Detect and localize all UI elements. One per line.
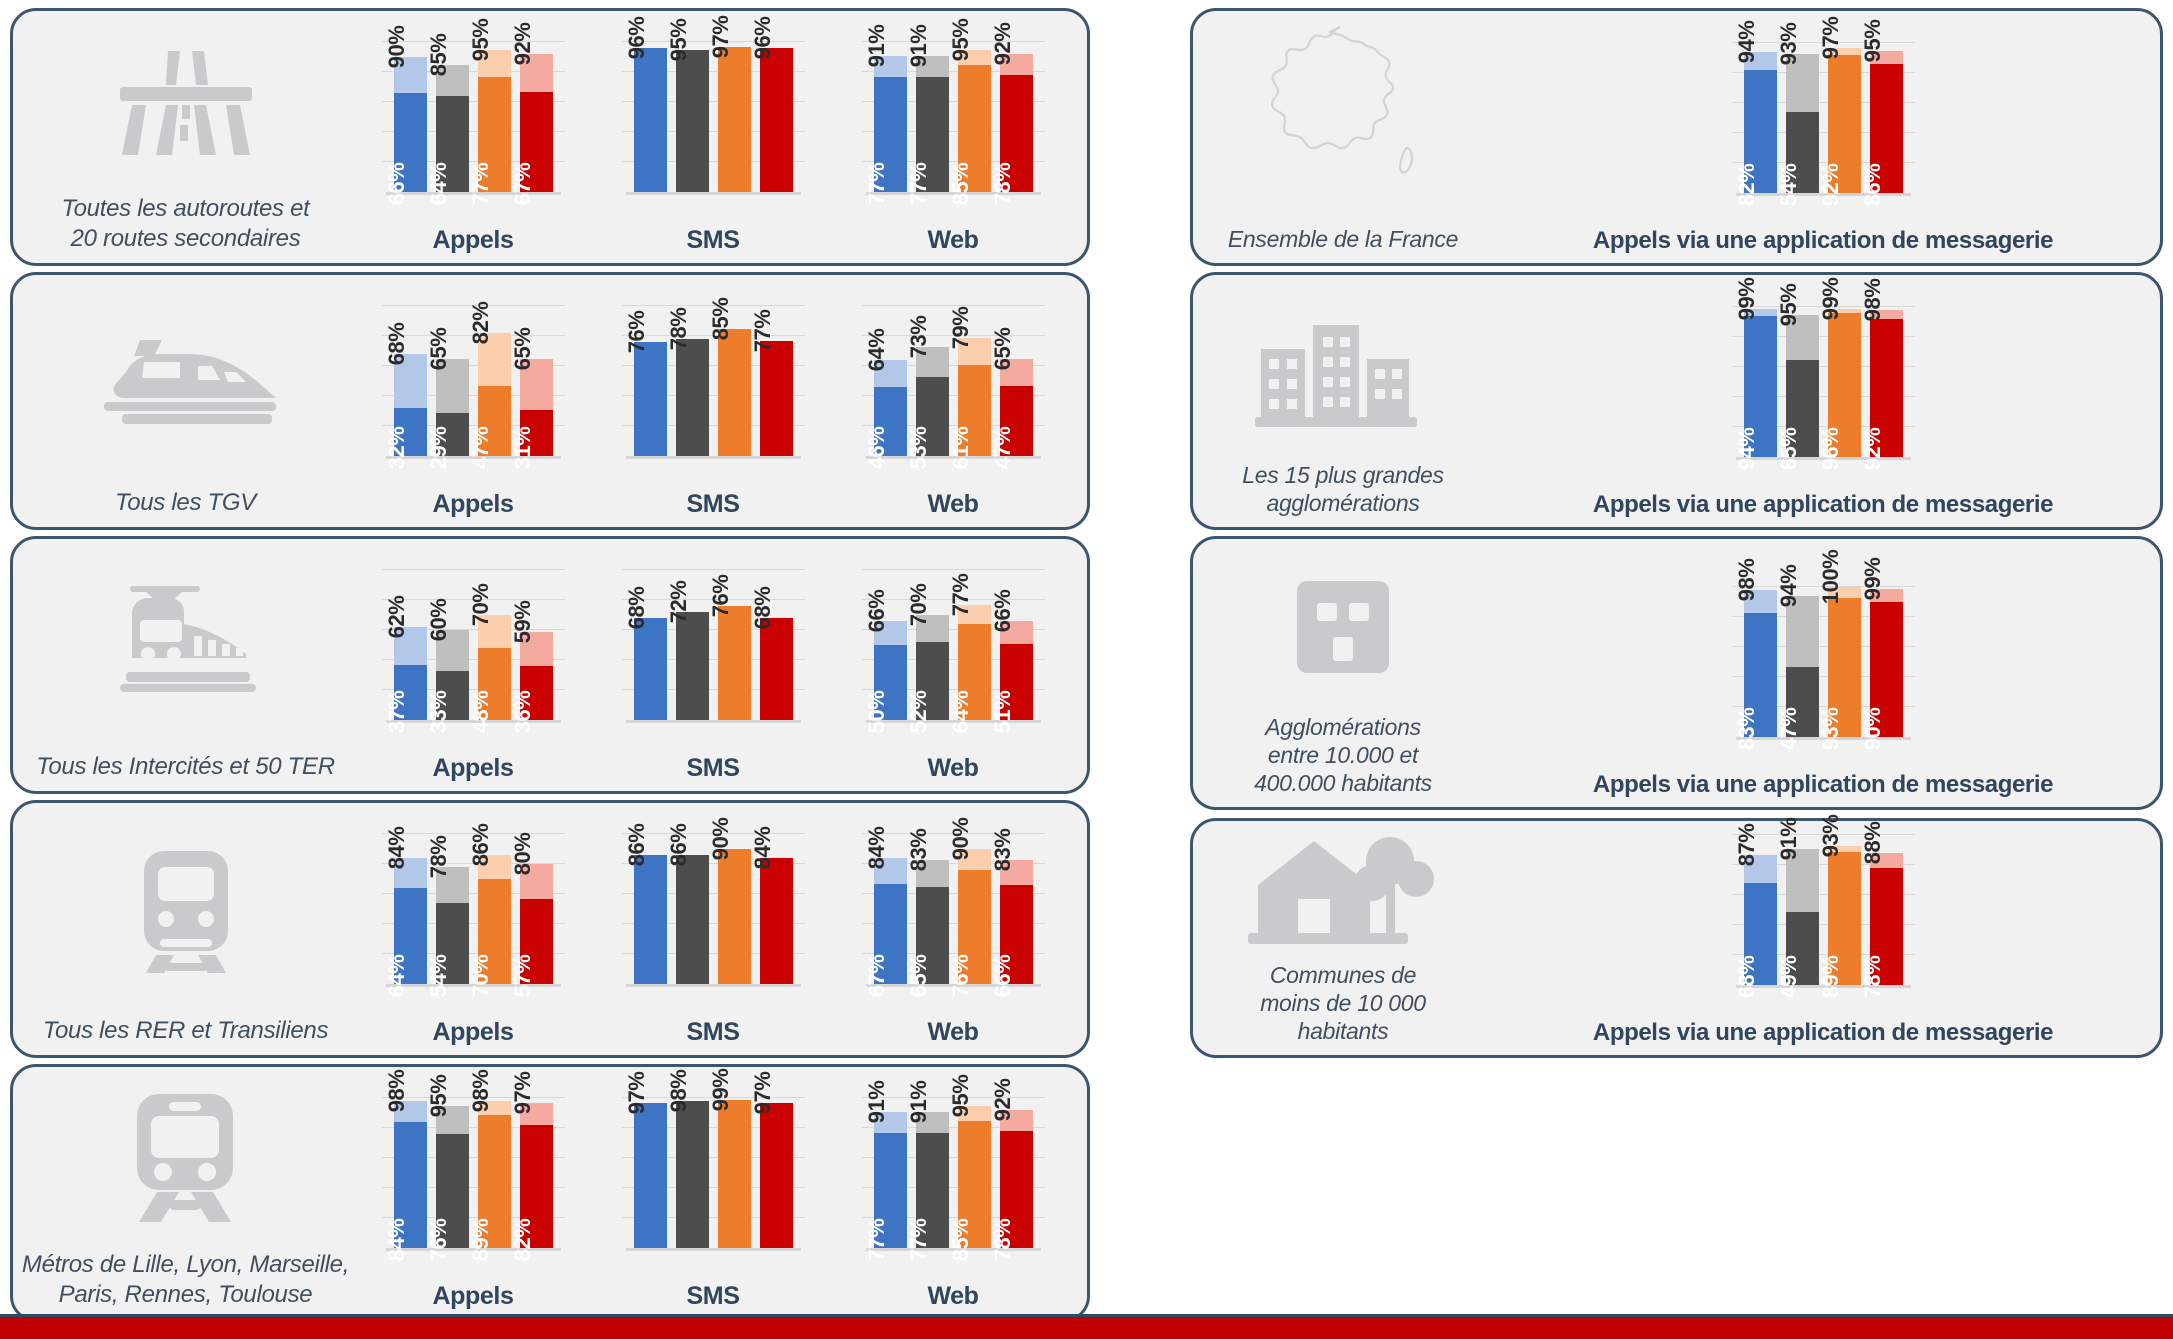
bar-outer-label: 97% (1818, 16, 1844, 59)
house-icon (1193, 821, 1493, 961)
bar: 68%87% (1744, 855, 1777, 986)
chart-group: 64%84%54%78%70%86%57%80% Appels (358, 803, 588, 1055)
bar-outer-label: 92% (510, 23, 536, 66)
bar-outer-label: 86% (624, 824, 650, 867)
bar-segment-inner: 90% (1870, 602, 1903, 737)
bar-segment-inner: 68% (1744, 883, 1777, 985)
bar-outer-label: 86% (468, 824, 494, 867)
panel-identity: Agglomérationsentre 10.000 et400.000 hab… (1193, 539, 1493, 807)
gridline (862, 569, 1045, 570)
bar-outer-label: 91% (864, 1080, 890, 1123)
panel-caption: Communes demoins de 10 000habitants (1252, 961, 1434, 1045)
panel-identity: Ensemble de la France (1193, 11, 1493, 263)
bar-outer-label: 72% (666, 581, 692, 624)
bar-outer-label: 70% (468, 584, 494, 627)
axis-baseline (626, 192, 801, 195)
bar-inner-label: 96% (1818, 428, 1844, 471)
bar: 46%64% (874, 360, 907, 456)
bar: 48%70% (478, 615, 511, 720)
plot-area: 83%98%47%94%93%100%90%99% (1513, 539, 2133, 771)
bars: 32%68%29%65%47%82%31%65% (358, 306, 588, 456)
caption-line: 20 routes secondaires (61, 224, 309, 253)
bars: 97%98%99%97% (598, 1098, 828, 1248)
panel-caption: Les 15 plus grandesagglomérations (1234, 461, 1451, 517)
bar-outer-label: 88% (1860, 822, 1886, 865)
bar-segment-inner (760, 1103, 793, 1249)
bar: 83%98% (1744, 590, 1777, 737)
bar-inner-label: 85% (948, 163, 974, 206)
bar: 64%84% (394, 858, 427, 984)
bar-segment-inner: 33% (436, 671, 469, 721)
bars: 77%91%77%91%85%95%78%92% (838, 1098, 1068, 1248)
bar-segment-inner: 31% (520, 410, 553, 457)
bar-outer-label: 90% (708, 818, 734, 861)
panel-grandes-agglos[interactable]: Les 15 plus grandesagglomérations 94%99%… (1190, 272, 2163, 530)
bar-segment-inner: 76% (436, 1134, 469, 1248)
bar-segment-inner: 77% (916, 77, 949, 193)
bar-outer-label: 96% (750, 17, 776, 60)
plot-area: 86%86%90%84% (598, 803, 828, 1018)
plot-area: 82%94%54%93%92%97%86%95% (1513, 11, 2133, 227)
caption-line: habitants (1260, 1017, 1426, 1045)
building-icon (1193, 539, 1493, 713)
panel-tgv[interactable]: Tous les TGV 32%68%29%65%47%82%31%65% Ap… (10, 272, 1090, 530)
bar-outer-label: 92% (990, 1079, 1016, 1122)
bar-outer-label: 84% (384, 827, 410, 870)
bar-segment-inner (760, 858, 793, 984)
bar: 77%91% (874, 56, 907, 193)
bar-outer-label: 84% (750, 827, 776, 870)
bar: 94%99% (1744, 309, 1777, 458)
chart-group: 86%86%90%84% SMS (598, 803, 828, 1055)
bar-outer-label: 94% (1734, 21, 1760, 64)
bar-segment-inner: 70% (478, 879, 511, 984)
bar-outer-label: 65% (990, 327, 1016, 370)
bar: 82%97% (520, 1103, 553, 1249)
panel-petites-communes[interactable]: Communes demoins de 10 000habitants 68%8… (1190, 818, 2163, 1058)
bars: 76%78%85%77% (598, 306, 828, 456)
bar-segment-inner: 65% (1786, 360, 1819, 458)
bar-segment-inner: 84% (394, 1122, 427, 1248)
panel-caption: Tous les RER et Transiliens (35, 1016, 336, 1045)
bar: 77%91% (916, 1112, 949, 1249)
bar-segment-inner: 64% (436, 96, 469, 192)
bar-inner-label: 77% (906, 163, 932, 206)
bar-outer-label: 90% (384, 26, 410, 69)
bar: 77%95% (478, 50, 511, 193)
bar-segment-inner (676, 1101, 709, 1248)
bar-outer-label: 78% (666, 308, 692, 351)
bar: 89%93% (1828, 846, 1861, 986)
bar-segment-inner: 36% (520, 666, 553, 720)
bar-segment-inner (718, 606, 751, 720)
group-title: SMS (598, 1018, 828, 1055)
bar-segment-inner: 78% (1000, 1131, 1033, 1248)
bar: 64%77% (958, 605, 991, 721)
bar-inner-label: 70% (468, 955, 494, 998)
bar: 61%79% (958, 338, 991, 457)
chart-group: 96%95%97%96% SMS (598, 11, 828, 263)
bar-inner-label: 82% (510, 1219, 536, 1262)
bar-outer-label: 95% (426, 1074, 452, 1117)
bar: 66%90% (394, 57, 427, 192)
plot-area: 37%62%33%60%48%70%36%59% (358, 539, 588, 754)
bar-outer-label: 83% (906, 828, 932, 871)
bar-inner-label: 37% (384, 691, 410, 734)
bar: 54%78% (436, 867, 469, 984)
bar: 32%68% (394, 354, 427, 456)
bar: 65%83% (916, 860, 949, 985)
bar-segment-inner: 54% (1786, 112, 1819, 193)
tgv-icon (13, 275, 358, 488)
bar-inner-label: 33% (426, 691, 452, 734)
bar-outer-label: 91% (906, 1080, 932, 1123)
panel-autoroutes[interactable]: Toutes les autoroutes et20 routes second… (10, 8, 1090, 266)
bar-outer-label: 99% (1734, 277, 1760, 320)
caption-line: Tous les TGV (115, 488, 256, 517)
chart-group: 46%64%53%73%61%79%47%65% Web (838, 275, 1068, 527)
bar-inner-label: 65% (906, 955, 932, 998)
bar-outer-label: 68% (750, 587, 776, 630)
bar-segment-inner: 93% (1828, 598, 1861, 738)
bar-inner-label: 54% (426, 955, 452, 998)
bar: 98% (676, 1101, 709, 1248)
bar-outer-label: 60% (426, 599, 452, 642)
bar-outer-label: 99% (708, 1068, 734, 1111)
bar-inner-label: 46% (864, 427, 890, 470)
bar-segment-inner: 51% (1000, 644, 1033, 721)
bar-segment-inner (760, 48, 793, 192)
group-title: Web (838, 490, 1068, 527)
bar: 86% (676, 855, 709, 984)
bar: 85%95% (958, 1106, 991, 1249)
panel-rer[interactable]: Tous les RER et Transiliens 64%84%54%78%… (10, 800, 1090, 1058)
panel-moyennes-agglos[interactable]: Agglomérationsentre 10.000 et400.000 hab… (1190, 536, 2163, 810)
bar-outer-label: 80% (510, 833, 536, 876)
plot-area: 96%95%97%96% (598, 11, 828, 226)
bar-segment-inner: 96% (1828, 313, 1861, 457)
panel-identity: Communes demoins de 10 000habitants (1193, 821, 1493, 1055)
bar-segment-inner: 50% (874, 645, 907, 720)
caption-line: Métros de Lille, Lyon, Marseille, (22, 1250, 349, 1279)
bar-inner-label: 47% (468, 427, 494, 470)
bar-inner-label: 76% (426, 1219, 452, 1262)
group-title: Appels via une application de messagerie (1513, 227, 2133, 263)
bar-inner-label: 77% (864, 1219, 890, 1262)
bar: 50%66% (874, 621, 907, 720)
caption-line: Paris, Rennes, Toulouse (22, 1280, 349, 1309)
group-title: SMS (598, 490, 828, 527)
bar-outer-label: 98% (666, 1070, 692, 1113)
bar-segment-inner: 54% (436, 903, 469, 984)
bar-inner-label: 77% (864, 163, 890, 206)
bar-segment-inner: 46% (874, 387, 907, 456)
bar: 97% (634, 1103, 667, 1249)
bar-segment-inner (760, 341, 793, 457)
bars: 68%87%49%91%89%93%78%88% (1513, 835, 2133, 985)
chart-group: 82%94%54%93%92%97%86%95% Appels via une … (1513, 11, 2133, 263)
bar: 95% (676, 50, 709, 193)
bar: 78%92% (1000, 54, 1033, 192)
bar: 29%65% (436, 359, 469, 457)
bars: 37%62%33%60%48%70%36%59% (358, 570, 588, 720)
bar: 76% (634, 342, 667, 456)
group-title: Appels via une application de messagerie (1513, 1019, 2133, 1055)
bar-segment-inner: 78% (1000, 75, 1033, 192)
bar: 49%91% (1786, 849, 1819, 986)
plot-area: 68%87%49%91%89%93%78%88% (1513, 821, 2133, 1019)
bars: 84%98%76%95%89%98%82%97% (358, 1098, 588, 1248)
bars: 77%91%77%91%85%95%78%92% (838, 42, 1068, 192)
bar-inner-label: 51% (990, 691, 1016, 734)
bar: 77% (760, 341, 793, 457)
bar-inner-label: 67% (510, 163, 536, 206)
bar-inner-label: 83% (1734, 708, 1760, 751)
bar-outer-label: 79% (948, 306, 974, 349)
bar: 52%70% (916, 615, 949, 720)
bar: 96% (760, 48, 793, 192)
bar-segment-inner: 82% (1744, 70, 1777, 193)
bar-outer-label: 76% (624, 311, 650, 354)
bar: 97% (760, 1103, 793, 1249)
chart-group: 50%66%52%70%64%77%51%66% Web (838, 539, 1068, 791)
bar-outer-label: 68% (624, 587, 650, 630)
bar-outer-label: 91% (1776, 817, 1802, 860)
panel-identity: Tous les TGV (13, 275, 358, 527)
panel-identity: Les 15 plus grandesagglomérations (1193, 275, 1493, 527)
bar-outer-label: 98% (1860, 279, 1886, 322)
caption-line: Agglomérations (1254, 713, 1432, 741)
bar: 84% (760, 858, 793, 984)
plot-area: 67%84%65%83%76%90%66%83% (838, 803, 1068, 1018)
bar: 96%99% (1828, 309, 1861, 458)
bar-outer-label: 95% (948, 18, 974, 61)
bar-outer-label: 86% (666, 824, 692, 867)
bar-segment-inner (718, 47, 751, 193)
bar-inner-label: 86% (1860, 164, 1886, 207)
bar-outer-label: 95% (468, 18, 494, 61)
bar-outer-label: 93% (1818, 814, 1844, 857)
bars: 94%99%65%95%96%99%92%98% (1513, 307, 2133, 457)
bar: 64%85% (436, 65, 469, 193)
caption-line: Les 15 plus grandes (1242, 461, 1443, 489)
chart-group: 67%84%65%83%76%90%66%83% Web (838, 803, 1068, 1055)
plot-area: 94%99%65%95%96%99%92%98% (1513, 275, 2133, 491)
highway-icon (13, 11, 358, 194)
bar-segment-inner (676, 339, 709, 456)
bar: 31%65% (520, 359, 553, 457)
bar-outer-label: 90% (948, 818, 974, 861)
chart-group: 94%99%65%95%96%99%92%98% Appels via une … (1513, 275, 2133, 527)
bar-outer-label: 84% (864, 827, 890, 870)
bar-segment-inner: 92% (1870, 319, 1903, 457)
bars: 82%94%54%93%92%97%86%95% (1513, 43, 2133, 193)
bar-segment-inner (634, 855, 667, 984)
bar: 47%94% (1786, 596, 1819, 737)
bar-outer-label: 85% (708, 297, 734, 340)
panel-france[interactable]: Ensemble de la France 82%94%54%93%92%97%… (1190, 8, 2163, 266)
chart-group: 66%90%64%85%77%95%67%92% Appels (358, 11, 588, 263)
bar: 76%95% (436, 1106, 469, 1249)
bar-inner-label: 61% (948, 427, 974, 470)
bar-outer-label: 97% (510, 1071, 536, 1114)
chart-group: 97%98%99%97% SMS (598, 1067, 828, 1319)
bar-inner-label: 76% (948, 955, 974, 998)
plot-area: 97%98%99%97% (598, 1067, 828, 1282)
plot-area: 68%72%76%68% (598, 539, 828, 754)
chart-group: 76%78%85%77% SMS (598, 275, 828, 527)
bar-segment-inner: 53% (916, 377, 949, 457)
bar: 85% (718, 329, 751, 457)
bar: 86% (634, 855, 667, 984)
bar: 97% (718, 47, 751, 193)
bar-segment-inner: 52% (916, 642, 949, 720)
bar: 84%98% (394, 1101, 427, 1248)
bar-outer-label: 62% (384, 596, 410, 639)
caption-line: Communes de (1260, 961, 1426, 989)
bar-outer-label: 98% (468, 1070, 494, 1113)
bar: 54%93% (1786, 54, 1819, 194)
panel-identity: Tous les Intercités et 50 TER (13, 539, 358, 791)
plot-area: 77%91%77%91%85%95%78%92% (838, 11, 1068, 226)
bar-outer-label: 95% (666, 18, 692, 61)
plot-area: 66%90%64%85%77%95%67%92% (358, 11, 588, 226)
gridline (382, 569, 565, 570)
caption-line: 400.000 habitants (1254, 769, 1432, 797)
bar: 92%98% (1870, 310, 1903, 457)
bars: 96%95%97%96% (598, 42, 828, 192)
panel-caption: Tous les TGV (107, 488, 264, 517)
bar-segment-inner (676, 855, 709, 984)
plot-area: 46%64%53%73%61%79%47%65% (838, 275, 1068, 490)
bar: 67%92% (520, 54, 553, 192)
bar-outer-label: 64% (864, 329, 890, 372)
bar-inner-label: 47% (1776, 708, 1802, 751)
chart-group: 68%72%76%68% SMS (598, 539, 828, 791)
panel-metros[interactable]: Métros de Lille, Lyon, Marseille,Paris, … (10, 1064, 1090, 1322)
bar-segment-inner (634, 618, 667, 720)
group-title: SMS (598, 226, 828, 263)
bar-inner-label: 92% (1860, 428, 1886, 471)
bar: 33%60% (436, 630, 469, 720)
bar-inner-label: 49% (1776, 956, 1802, 999)
chart-group: 32%68%29%65%47%82%31%65% Appels (358, 275, 588, 527)
bar-segment-inner: 29% (436, 413, 469, 457)
bar: 78%92% (1000, 1110, 1033, 1248)
bar-outer-label: 100% (1818, 550, 1844, 604)
chart-group: 68%87%49%91%89%93%78%88% Appels via une … (1513, 821, 2133, 1055)
footer-red-band (0, 1317, 2173, 1339)
bar: 82%94% (1744, 52, 1777, 193)
bar-segment-inner (718, 329, 751, 457)
bar: 68% (760, 618, 793, 720)
bar: 70%86% (478, 855, 511, 984)
bar-inner-label: 89% (468, 1219, 494, 1262)
bar-segment-inner: 67% (874, 884, 907, 985)
bar-inner-label: 67% (864, 955, 890, 998)
bar-inner-label: 48% (468, 691, 494, 734)
bar-segment-inner: 47% (1000, 386, 1033, 457)
panel-intercites[interactable]: Tous les Intercités et 50 TER 37%62%33%6… (10, 536, 1090, 794)
gridline (622, 569, 805, 570)
bar-segment-inner: 77% (874, 1133, 907, 1249)
bar-inner-label: 57% (510, 955, 536, 998)
bar-segment-inner: 66% (1000, 885, 1033, 984)
group-title: Appels (358, 226, 588, 263)
bar-outer-label: 68% (384, 323, 410, 366)
bar: 89%98% (478, 1101, 511, 1248)
bar: 92%97% (1828, 48, 1861, 194)
bar: 68% (634, 618, 667, 720)
bar-outer-label: 99% (1818, 277, 1844, 320)
bar-segment-inner: 64% (394, 888, 427, 984)
bar-segment-inner (676, 612, 709, 720)
bar-outer-label: 85% (426, 33, 452, 76)
bar-inner-label: 54% (1776, 164, 1802, 207)
caption-line: Ensemble de la France (1228, 225, 1458, 253)
bar-inner-label: 64% (384, 955, 410, 998)
bar-inner-label: 32% (384, 427, 410, 470)
group-title: Web (838, 226, 1068, 263)
bar-segment-inner (634, 48, 667, 192)
bar-inner-label: 36% (510, 691, 536, 734)
bar-inner-label: 50% (864, 691, 890, 734)
group-title: Appels (358, 490, 588, 527)
bar: 90% (718, 849, 751, 984)
bar-segment-inner: 82% (520, 1125, 553, 1248)
bar-outer-label: 98% (384, 1070, 410, 1113)
plot-area: 32%68%29%65%47%82%31%65% (358, 275, 588, 490)
bar-outer-label: 70% (906, 584, 932, 627)
panel-identity: Toutes les autoroutes et20 routes second… (13, 11, 358, 263)
bar-inner-label: 84% (384, 1219, 410, 1262)
chart-group: 37%62%33%60%48%70%36%59% Appels (358, 539, 588, 791)
bar-segment-inner: 85% (958, 65, 991, 193)
bar-segment-inner: 78% (1870, 868, 1903, 985)
bar-outer-label: 73% (906, 315, 932, 358)
bar-segment-inner: 65% (916, 887, 949, 985)
bars: 64%84%54%78%70%86%57%80% (358, 834, 588, 984)
bar: 72% (676, 612, 709, 720)
bar-segment-inner: 89% (478, 1115, 511, 1249)
bars: 68%72%76%68% (598, 570, 828, 720)
bar-outer-label: 59% (510, 600, 536, 643)
bar: 47%65% (1000, 359, 1033, 457)
bar-outer-label: 82% (468, 302, 494, 345)
france-map-icon (1193, 11, 1493, 225)
bar-outer-label: 66% (864, 590, 890, 633)
bar-inner-label: 77% (906, 1219, 932, 1262)
bar-segment-inner (718, 1100, 751, 1249)
group-title: Web (838, 754, 1068, 791)
bar-outer-label: 77% (948, 573, 974, 616)
bar-segment-inner: 85% (958, 1121, 991, 1249)
bar-outer-label: 78% (426, 836, 452, 879)
bar-inner-label: 90% (1860, 708, 1886, 751)
bar-segment-inner: 94% (1744, 316, 1777, 457)
group-title: Appels via une application de messagerie (1513, 771, 2133, 807)
bar: 36%59% (520, 632, 553, 721)
bar-segment-inner (760, 618, 793, 720)
panel-identity: Métros de Lille, Lyon, Marseille,Paris, … (13, 1067, 358, 1319)
bar: 76%90% (958, 849, 991, 984)
bar-inner-label: 89% (1818, 956, 1844, 999)
chart-group: 77%91%77%91%85%95%78%92% Web (838, 1067, 1068, 1319)
bar: 57%80% (520, 864, 553, 984)
bar-outer-label: 65% (510, 327, 536, 370)
caption-line: entre 10.000 et (1254, 741, 1432, 769)
bar-segment-inner: 83% (1744, 613, 1777, 738)
